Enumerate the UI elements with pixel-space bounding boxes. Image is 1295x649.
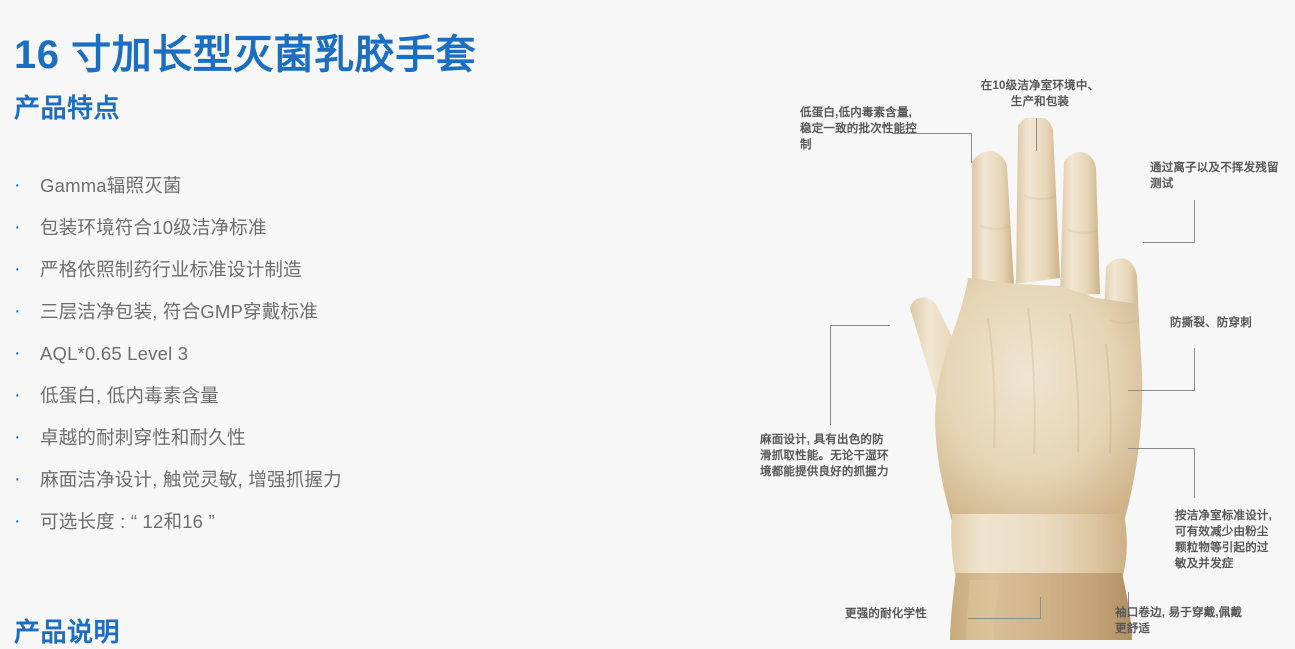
feature-text: 可选长度 : “ 12和16 ” xyxy=(40,501,215,543)
leader-line-cleanstd-vertical xyxy=(1194,448,1195,498)
annotation-cleanroom: 在10级洁净室环境中、生产和包装 xyxy=(975,78,1105,110)
features-heading: 产品特点 xyxy=(14,88,120,125)
annotation-ion-residue-test: 通过离子以及不挥发残留测试 xyxy=(1150,160,1280,192)
annotation-cleanroom-standard-design: 按洁净室标准设计,可有效减少由粉尘颗粒物等引起的过敏及并发症 xyxy=(1175,508,1280,572)
list-item: · 包装环境符合10级洁净标准 xyxy=(14,207,634,249)
feature-text: 三层洁净包装, 符合GMP穿戴标准 xyxy=(40,291,318,333)
bullet-icon: · xyxy=(14,164,40,206)
annotation-rolled-cuff: 袖口卷边, 易于穿戴,佩戴更舒适 xyxy=(1115,605,1245,637)
list-item: · AQL*0.65 Level 3 xyxy=(14,333,634,375)
description-heading: 产品说明 xyxy=(14,612,120,649)
latex-glove-image xyxy=(910,118,1180,640)
annotation-textured-grip: 麻面设计, 具有出色的防滑抓取性能。无论干湿环境都能提供良好的抓握力 xyxy=(760,432,890,480)
list-item: · Gamma辐照灭菌 xyxy=(14,165,634,207)
bullet-icon: · xyxy=(14,374,40,416)
feature-text: Gamma辐照灭菌 xyxy=(40,165,182,207)
annotation-tear-puncture-resistant: 防撕裂、防穿刺 xyxy=(1170,315,1290,331)
feature-text: 麻面洁净设计, 触觉灵敏, 增强抓握力 xyxy=(40,459,342,501)
list-item: · 严格依照制药行业标准设计制造 xyxy=(14,249,634,291)
feature-text: 卓越的耐刺穿性和耐久性 xyxy=(40,417,246,459)
glove-illustration xyxy=(910,118,1180,640)
leader-line-cleanstd-horizontal xyxy=(1128,448,1195,449)
leader-line-ion-horizontal xyxy=(1143,242,1195,243)
leader-line-ion-vertical xyxy=(1194,200,1195,242)
bullet-icon: · xyxy=(14,332,40,374)
annotation-low-protein: 低蛋白,低内毒素含量,稳定一致的批次性能控制 xyxy=(800,105,920,153)
product-features-list: · Gamma辐照灭菌 · 包装环境符合10级洁净标准 · 严格依照制药行业标准… xyxy=(14,165,634,543)
leader-line-chemical-horizontal xyxy=(968,618,1040,619)
feature-text: 低蛋白, 低内毒素含量 xyxy=(40,375,219,417)
list-item: · 卓越的耐刺穿性和耐久性 xyxy=(14,417,634,459)
leader-line-cleanroom xyxy=(1036,118,1037,151)
annotation-chemical-resistance: 更强的耐化学性 xyxy=(845,606,965,622)
leader-line-texture-vertical xyxy=(830,325,831,425)
leader-line-tear-vertical xyxy=(1194,348,1195,390)
feature-text: 严格依照制药行业标准设计制造 xyxy=(40,249,302,291)
list-item: · 三层洁净包装, 符合GMP穿戴标准 xyxy=(14,291,634,333)
bullet-icon: · xyxy=(14,416,40,458)
leader-line-protein-vertical xyxy=(971,133,972,163)
product-diagram-panel: 在10级洁净室环境中、生产和包装 低蛋白,低内毒素含量,稳定一致的批次性能控制 … xyxy=(700,0,1295,640)
bullet-icon: · xyxy=(14,290,40,332)
feature-text: AQL*0.65 Level 3 xyxy=(40,333,188,375)
list-item: · 麻面洁净设计, 触觉灵敏, 增强抓握力 xyxy=(14,459,634,501)
leader-line-texture-horizontal xyxy=(830,325,890,326)
bullet-icon: · xyxy=(14,500,40,542)
bullet-icon: · xyxy=(14,248,40,290)
feature-text: 包装环境符合10级洁净标准 xyxy=(40,207,267,249)
document-text-column: 16 寸加长型灭菌乳胶手套 产品特点 · Gamma辐照灭菌 · 包装环境符合1… xyxy=(0,0,700,640)
leader-line-tear-horizontal xyxy=(1128,390,1195,391)
list-item: · 可选长度 : “ 12和16 ” xyxy=(14,501,634,543)
bullet-icon: · xyxy=(14,206,40,248)
page-title: 16 寸加长型灭菌乳胶手套 xyxy=(14,22,476,80)
leader-line-chemical-vertical xyxy=(1040,597,1041,619)
bullet-icon: · xyxy=(14,458,40,500)
list-item: · 低蛋白, 低内毒素含量 xyxy=(14,375,634,417)
